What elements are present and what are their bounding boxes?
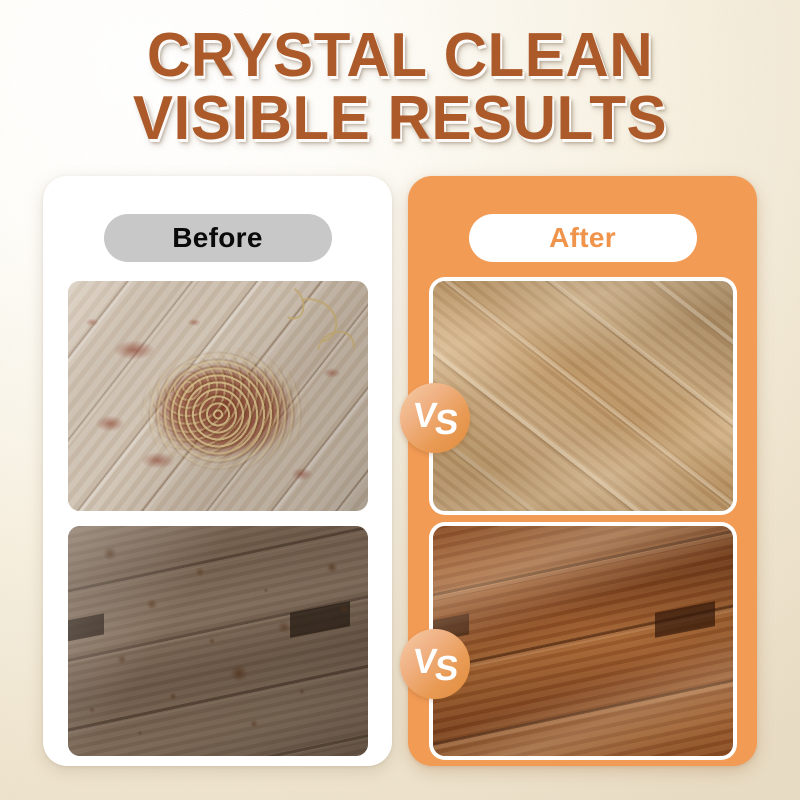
before-panel: Before	[43, 176, 392, 766]
headline-line-1: CRYSTAL CLEAN	[12, 26, 788, 87]
vs-badge-s: S	[433, 651, 459, 686]
before-photo-stained-floor	[68, 526, 368, 756]
before-label-text: Before	[172, 222, 263, 254]
vs-badge-label: VS	[411, 647, 459, 682]
photo-lighting	[433, 526, 733, 756]
after-photo-clean-rich-floor	[433, 526, 733, 756]
vs-badge-top: VS	[400, 383, 470, 453]
vs-badge-bottom: VS	[400, 629, 470, 699]
vs-badge-label: VS	[411, 401, 459, 436]
vs-badge-v: V	[411, 644, 437, 679]
photo-lighting	[68, 526, 368, 756]
page-title: CRYSTAL CLEAN VISIBLE RESULTS	[0, 26, 800, 150]
headline-line-2: VISIBLE RESULTS	[12, 89, 788, 150]
after-label-pill: After	[469, 214, 697, 262]
vs-badge-v: V	[411, 398, 437, 433]
after-label-text: After	[549, 222, 616, 254]
after-photo-clean-tan-floor	[433, 281, 733, 511]
before-after-comparison: Before After	[43, 176, 757, 766]
photo-lighting	[68, 281, 368, 511]
before-label-pill: Before	[104, 214, 332, 262]
photo-lighting	[433, 281, 733, 511]
before-photo-spaghetti	[68, 281, 368, 511]
vs-badge-s: S	[433, 405, 459, 440]
